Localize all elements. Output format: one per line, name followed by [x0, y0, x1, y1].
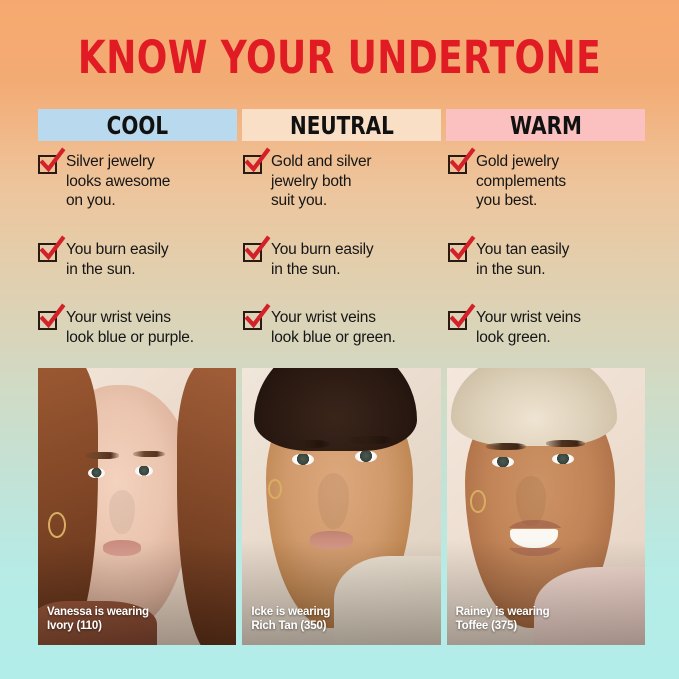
checklist-item: You tan easily in the sun. — [448, 240, 648, 292]
checklist-item-text: Your wrist veins look green. — [476, 308, 581, 347]
model-photo-vanessa: Vanessa is wearing Ivory (110) — [38, 368, 236, 645]
photo-vignette — [447, 368, 645, 645]
checklist-item: Your wrist veins look green. — [448, 308, 648, 360]
checkbox-checked-icon — [448, 243, 467, 262]
column-header-cool-label: COOL — [107, 113, 168, 138]
checkbox-checked-icon — [38, 155, 57, 174]
checklist-item: Gold jewelry complements you best. — [448, 152, 648, 224]
checkbox-checked-icon — [448, 311, 467, 330]
checkbox-checked-icon — [243, 243, 262, 262]
checkbox-checked-icon — [243, 155, 262, 174]
checklist-item: Your wrist veins look blue or green. — [243, 308, 443, 360]
model-photo-icke: Icke is wearing Rich Tan (350) — [242, 368, 440, 645]
undertone-infographic: KNOW YOUR UNDERTONE COOL NEUTRAL WARM Si… — [0, 0, 679, 679]
column-header-warm: WARM — [446, 109, 645, 141]
checklist-item-text: You burn easily in the sun. — [66, 240, 168, 279]
checklist-item-text: Gold and silver jewelry both suit you. — [271, 152, 371, 211]
checklist-column-cool: Silver jewelry looks awesome on you. You… — [38, 152, 238, 352]
undertone-checklist-columns: Silver jewelry looks awesome on you. You… — [38, 152, 648, 352]
checklist-item-text: Your wrist veins look blue or green. — [271, 308, 396, 347]
checkbox-checked-icon — [448, 155, 467, 174]
checklist-item: Silver jewelry looks awesome on you. — [38, 152, 238, 224]
checklist-item: Your wrist veins look blue or purple. — [38, 308, 238, 360]
checklist-column-neutral: Gold and silver jewelry both suit you. Y… — [243, 152, 443, 352]
photo-vignette — [242, 368, 440, 645]
model-photo-row: Vanessa is wearing Ivory (110) Icke is w… — [38, 368, 645, 645]
column-header-cool: COOL — [38, 109, 237, 141]
undertone-header-row: COOL NEUTRAL WARM — [38, 109, 645, 141]
checklist-item-text: Your wrist veins look blue or purple. — [66, 308, 194, 347]
checkbox-checked-icon — [38, 243, 57, 262]
checklist-item-text: Gold jewelry complements you best. — [476, 152, 566, 211]
photo-caption: Vanessa is wearing Ivory (110) — [47, 605, 149, 633]
checklist-item: Gold and silver jewelry both suit you. — [243, 152, 443, 224]
column-header-warm-label: WARM — [510, 113, 582, 138]
checkbox-checked-icon — [38, 311, 57, 330]
photo-vignette — [38, 368, 236, 645]
column-header-neutral: NEUTRAL — [242, 109, 441, 141]
column-header-neutral-label: NEUTRAL — [290, 113, 394, 138]
model-photo-rainey: Rainey is wearing Toffee (375) — [447, 368, 645, 645]
checklist-item-text: You burn easily in the sun. — [271, 240, 373, 279]
checklist-column-warm: Gold jewelry complements you best. You t… — [448, 152, 648, 352]
page-title: KNOW YOUR UNDERTONE — [68, 33, 611, 83]
photo-caption: Rainey is wearing Toffee (375) — [456, 605, 550, 633]
checklist-item-text: Silver jewelry looks awesome on you. — [66, 152, 170, 211]
photo-caption: Icke is wearing Rich Tan (350) — [251, 605, 330, 633]
checklist-item: You burn easily in the sun. — [243, 240, 443, 292]
checklist-item-text: You tan easily in the sun. — [476, 240, 569, 279]
checklist-item: You burn easily in the sun. — [38, 240, 238, 292]
checkbox-checked-icon — [243, 311, 262, 330]
